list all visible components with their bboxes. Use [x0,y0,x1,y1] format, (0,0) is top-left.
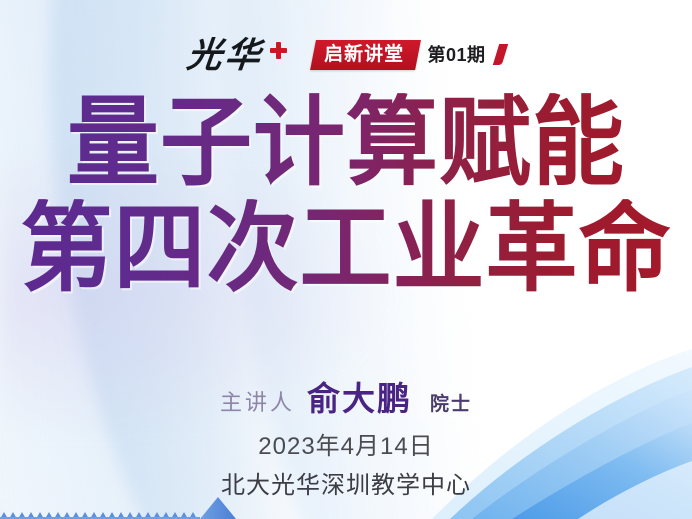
series-badge: 启新讲堂 [311,40,422,70]
speaker-block: 主讲人 俞大鹏 院士 [0,372,692,420]
speaker-academic-title: 院士 [430,389,472,416]
page-title: 量子计算赋能 第四次工业革命 [0,96,692,297]
speaker-role-label: 主讲人 [220,385,295,417]
title-line-2: 第四次工业革命 [0,199,692,300]
speaker-name: 俞大鹏 [307,372,412,420]
series-issue-label: 第01期 [428,46,486,64]
event-meta: 2023年4月14日 北大光华深圳教学中心 [0,430,692,503]
poster-header: 光华 启新讲堂 第01期 [0,30,692,80]
slash-mark-icon [492,44,507,65]
brand-name: 光华 [186,38,266,73]
series-badge-label: 启新讲堂 [325,44,405,65]
brand-logo: 光华 [187,38,287,73]
lecture-poster: 光华 启新讲堂 第01期 量子计算赋能 第四次工业革命 主讲人 俞大鹏 院士 2… [0,0,692,519]
series-group: 启新讲堂 第01期 [313,40,504,70]
plus-icon [270,42,287,59]
event-date: 2023年4月14日 [0,430,692,464]
title-line-1: 量子计算赋能 [0,93,692,194]
event-venue: 北大光华深圳教学中心 [0,469,692,503]
